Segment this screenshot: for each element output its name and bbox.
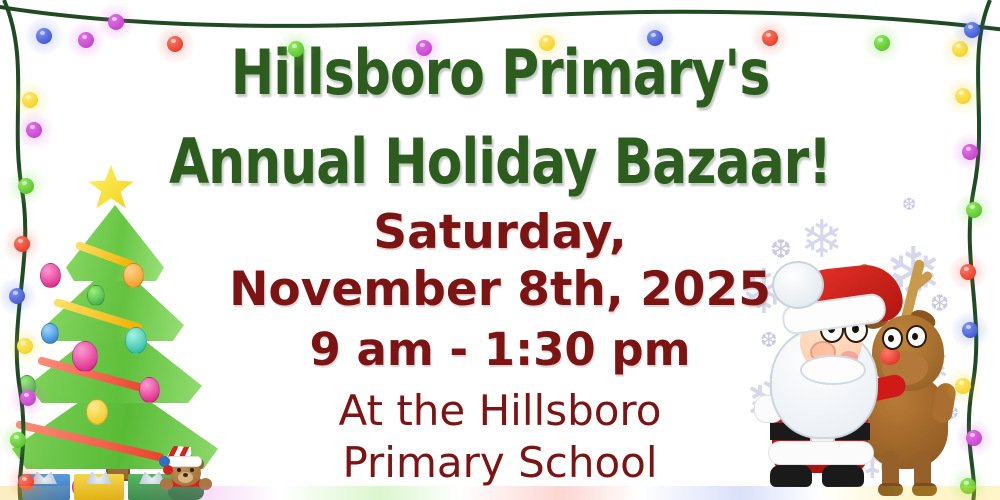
light-bulb — [874, 35, 890, 51]
tree-ornament-pink-3 — [139, 377, 160, 403]
light-bulb — [14, 236, 30, 252]
light-bulb — [960, 264, 976, 280]
reindeer-pupil-left — [888, 335, 894, 342]
light-bulb — [955, 378, 971, 394]
light-bulb — [955, 88, 971, 104]
santa-coat-hem — [768, 441, 874, 465]
tree-ornament-pink-1 — [40, 263, 61, 288]
light-bulb — [36, 28, 52, 44]
light-bulb — [78, 32, 94, 48]
light-bulb — [18, 178, 34, 194]
tree-ornament-yellow-1 — [86, 399, 108, 425]
teddy-eye-left — [177, 468, 181, 472]
light-bulb — [964, 22, 980, 38]
light-bulb — [17, 338, 33, 354]
reindeer-pupil-right — [912, 333, 918, 340]
light-bulb — [22, 92, 38, 108]
teddy-eye-right — [190, 468, 194, 472]
santa-boot-left — [770, 465, 812, 487]
santa-moustache — [800, 355, 866, 385]
light-bulb — [962, 322, 978, 338]
light-bulb — [962, 144, 978, 160]
light-bulb — [762, 30, 778, 46]
light-bulb — [288, 41, 304, 57]
light-bulb — [20, 390, 36, 406]
light-bulb — [647, 30, 663, 46]
tree-ornament-pink-2 — [72, 341, 98, 372]
teddy-earmuff — [163, 465, 173, 475]
tree-ornament-teal-1 — [125, 327, 147, 354]
tree-ornament-orange-1 — [123, 263, 144, 288]
light-bulb — [167, 36, 183, 52]
light-bulb — [966, 202, 982, 218]
light-bulb — [966, 430, 982, 446]
light-bulb — [9, 288, 25, 304]
light-bulb — [10, 432, 26, 448]
light-bulb — [108, 14, 124, 30]
light-bulb — [26, 122, 42, 138]
light-bulb — [539, 35, 555, 51]
tree-star-icon — [88, 165, 134, 211]
teddy-nose — [183, 473, 188, 477]
bottom-light-glow — [0, 486, 1000, 500]
light-bulb — [416, 40, 432, 56]
holiday-bazaar-flyer: ❄ ❄ ❄ ❄ ❄ ❄ ❆ ❆ ❆ ❆ ❆ ❆ Hillsboro Primar… — [0, 0, 1000, 500]
santa-hat-pompom — [772, 261, 824, 309]
santa-boot-right — [822, 465, 864, 487]
tree-ornament-green-1 — [87, 285, 105, 306]
